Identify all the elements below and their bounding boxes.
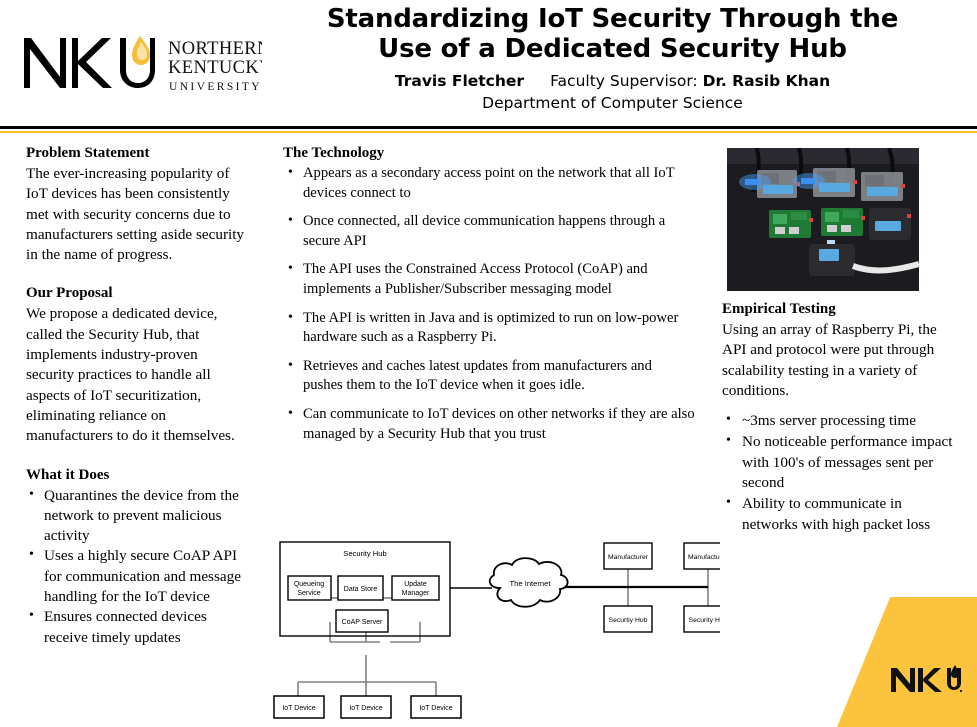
list-item: Retrieves and caches latest updates from…	[283, 357, 695, 396]
page-title: Standardizing IoT Security Through the U…	[248, 4, 977, 64]
diagram-label-remote-hub-1: Securtiy Hub	[609, 617, 648, 624]
diagram-label-manufacturer-1: Manufacturer	[608, 554, 649, 561]
list-item: The API uses the Constrained Access Prot…	[283, 260, 695, 299]
header-divider-black	[0, 126, 977, 129]
section-body-our-proposal: We propose a dedicated device, called th…	[26, 304, 248, 446]
list-item: No noticeable performance impact with 10…	[722, 432, 954, 493]
title-block: Standardizing IoT Security Through the U…	[248, 4, 977, 114]
diagram-label-security-hub: Security Hub	[343, 549, 386, 558]
raspberry-pi-testbed-photo	[727, 148, 919, 291]
list-item: ~3ms server processing time	[722, 411, 954, 431]
list-item: The API is written in Java and is optimi…	[283, 309, 695, 348]
diagram-label-iot-device-2: IoT Device	[349, 705, 382, 712]
list-item: Ability to communicate in networks with …	[722, 494, 954, 535]
poster-canvas: NORTHERN KENTUCKY UNIVERSITY Standardizi…	[0, 0, 977, 727]
gold-triangle	[837, 597, 977, 727]
diagram-label-remote-hub-2: Security Hub	[689, 617, 720, 624]
bullet-list-what-it-does: Quarantines the device from the network …	[26, 486, 248, 648]
list-item: Can communicate to IoT devices on other …	[283, 405, 695, 444]
diagram-label-internet: The Internet	[510, 579, 552, 588]
section-body-empirical-testing: Using an array of Raspberry Pi, the API …	[722, 320, 954, 401]
section-heading-our-proposal: Our Proposal	[26, 284, 248, 303]
nku-logo: NORTHERN KENTUCKY UNIVERSITY	[22, 34, 262, 96]
section-heading-problem-statement: Problem Statement	[26, 144, 248, 163]
diagram-label-iot-device-3: IoT Device	[419, 705, 452, 712]
diagram-label-update-2: Manager	[402, 590, 430, 597]
supervisor-label: Faculty Supervisor:	[550, 72, 698, 90]
gold-corner-accent	[837, 597, 977, 727]
section-heading-the-technology: The Technology	[283, 144, 695, 163]
middle-column: The Technology Appears as a secondary ac…	[283, 144, 695, 453]
right-column: Empirical Testing Using an array of Rasp…	[722, 300, 954, 536]
nku-corner-logo	[889, 665, 963, 695]
diagram-label-manufacturer-2: Manufacturer	[688, 554, 720, 561]
author-name: Travis Fletcher	[395, 72, 524, 90]
section-heading-empirical-testing: Empirical Testing	[722, 300, 954, 319]
list-item: Uses a highly secure CoAP API for commun…	[26, 546, 248, 607]
page-title-line-1: Standardizing IoT Security Through the	[327, 4, 898, 34]
department-line: Department of Computer Science	[248, 93, 977, 114]
architecture-diagram: Security Hub Queueing Service Data Store…	[268, 530, 720, 720]
list-item: Appears as a secondary access point on t…	[283, 164, 695, 203]
supervisor-name: Dr. Rasib Khan	[703, 72, 831, 90]
left-column: Problem Statement The ever-increasing po…	[26, 144, 248, 648]
page-title-line-2: Use of a Dedicated Security Hub	[378, 34, 847, 64]
diagram-label-queueing-1: Queueing	[294, 581, 324, 588]
author-line: Travis FletcherFaculty Supervisor: Dr. R…	[248, 71, 977, 92]
list-item: Once connected, all device communication…	[283, 212, 695, 251]
diagram-label-coap-server: CoAP Server	[342, 619, 383, 626]
diagram-label-queueing-2: Service	[297, 590, 320, 597]
diagram-label-iot-device-1: IoT Device	[282, 705, 315, 712]
diagram-label-data-store: Data Store	[344, 586, 378, 593]
bullet-list-empirical-testing: ~3ms server processing time No noticeabl…	[722, 411, 954, 535]
list-item: Quarantines the device from the network …	[26, 486, 248, 547]
bullet-list-the-technology: Appears as a secondary access point on t…	[283, 164, 695, 444]
section-heading-what-it-does: What it Does	[26, 466, 248, 485]
header-divider-gold	[0, 131, 977, 133]
list-item: Ensures connected devices receive timely…	[26, 607, 248, 648]
diagram-label-update-1: Update	[404, 581, 427, 588]
poster-header: NORTHERN KENTUCKY UNIVERSITY Standardizi…	[0, 0, 977, 130]
section-body-problem-statement: The ever-increasing popularity of IoT de…	[26, 164, 248, 265]
